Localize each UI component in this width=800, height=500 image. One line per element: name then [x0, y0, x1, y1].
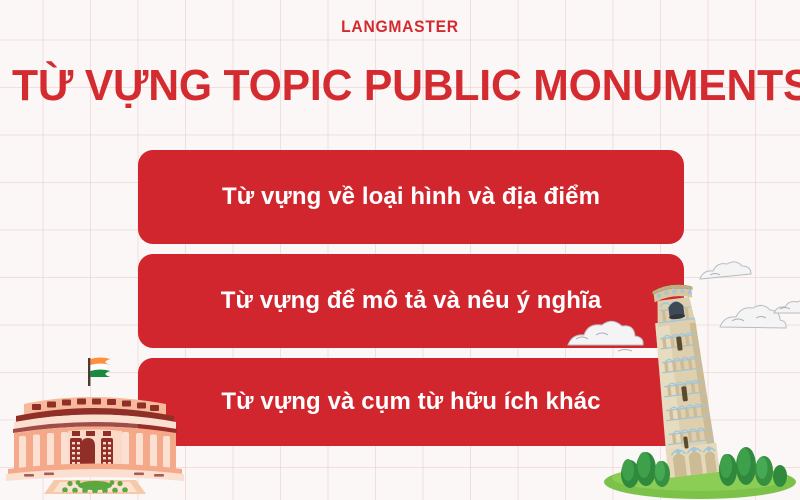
- topic-banner-3-label: Từ vựng và cụm từ hữu ích khác: [221, 388, 600, 416]
- langmaster-logo: LANGMASTER: [32, 17, 768, 37]
- topic-banner-1[interactable]: Từ vựng về loại hình và địa điểm: [138, 150, 684, 244]
- poster-canvas: LANGMASTER TỪ VỰNG TOPIC PUBLIC MONUMENT…: [0, 0, 800, 500]
- topic-banner-1-label: Từ vựng về loại hình và địa điểm: [222, 183, 600, 211]
- page-title: TỪ VỰNG TOPIC PUBLIC MONUMENTS: [12, 62, 788, 110]
- indian-parliament-illustration: [2, 354, 188, 494]
- leaning-tower-of-pisa-illustration: [600, 260, 800, 500]
- topic-banner-2-label: Từ vựng để mô tả và nêu ý nghĩa: [221, 287, 602, 315]
